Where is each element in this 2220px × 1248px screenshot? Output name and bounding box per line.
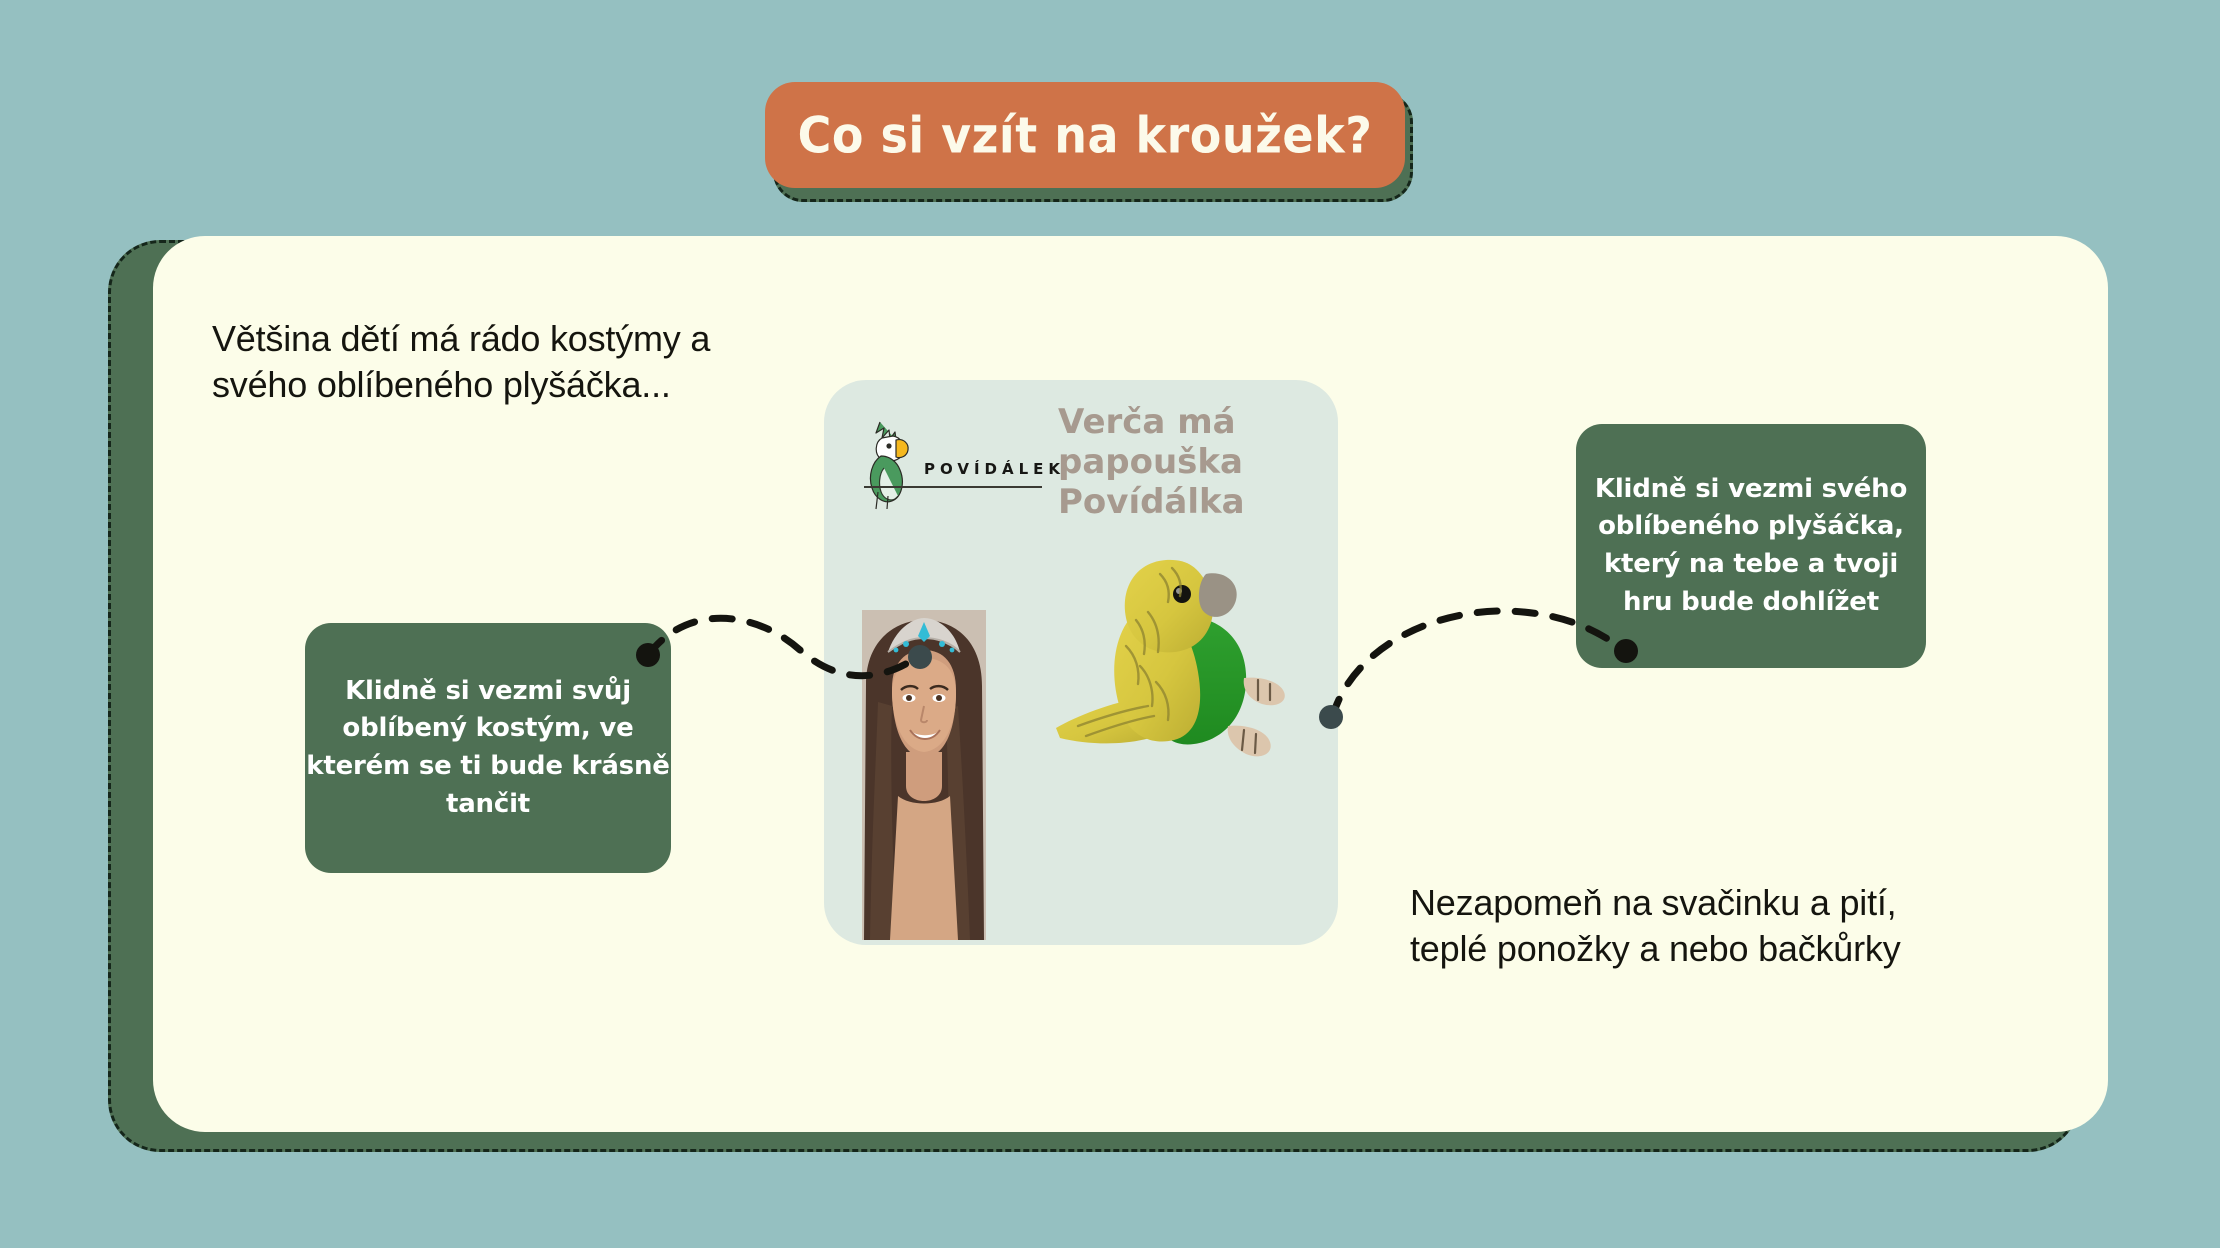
book-cover-card: POVÍDÁLEK Verča má papouška Povídálka [824, 380, 1338, 945]
outro-paragraph: Nezapomeň na svačinku a pití, teplé pono… [1410, 880, 1901, 972]
logo-divider [864, 486, 1042, 488]
parrot-logo-icon [862, 416, 922, 511]
povidalek-logo: POVÍDÁLEK [862, 416, 1047, 511]
note-card-costume: Klidně si vezmi svůj oblíbený kostým, ve… [305, 623, 671, 873]
note-card-plush-text: Klidně si vezmi svého oblíbeného plyšáčk… [1595, 471, 1907, 622]
note-card-plush: Klidně si vezmi svého oblíbeného plyšáčk… [1576, 424, 1926, 668]
plush-parrot-image [1048, 550, 1320, 790]
intro-paragraph: Většina dětí má rádo kostýmy a svého obl… [212, 316, 710, 408]
page-title: Co si vzít na kroužek? [798, 106, 1373, 164]
title-banner-face: Co si vzít na kroužek? [765, 82, 1405, 188]
slide-canvas: Co si vzít na kroužek? Většina dětí má r… [0, 0, 2220, 1248]
book-title: Verča má papouška Povídálka [1058, 402, 1308, 522]
logo-wordmark: POVÍDÁLEK [924, 460, 1065, 478]
title-banner: Co si vzít na kroužek? [765, 82, 1405, 192]
woman-with-tiara-photo [862, 610, 986, 940]
note-card-costume-text: Klidně si vezmi svůj oblíbený kostým, ve… [306, 673, 669, 824]
